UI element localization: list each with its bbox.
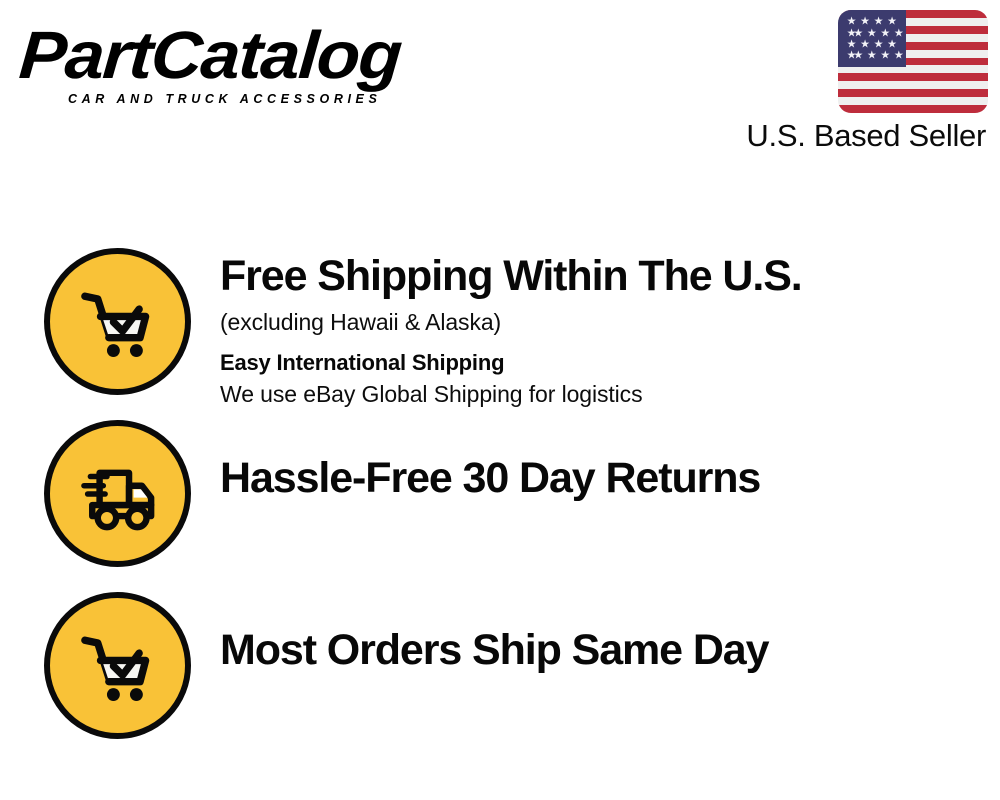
feature-heading: Hassle-Free 30 Day Returns	[220, 454, 1000, 503]
feature-row: Free Shipping Within The U.S. (excluding…	[0, 248, 1000, 410]
shopping-cart-check-icon	[44, 248, 191, 395]
feature-row: Hassle-Free 30 Day Returns	[0, 420, 1000, 567]
delivery-truck-icon	[44, 420, 191, 567]
brand-logo-tagline: CAR AND TRUCK ACCESSORIES	[68, 92, 381, 106]
brand-logo[interactable]: PartCatalog CAR AND TRUCK ACCESSORIES	[22, 22, 492, 114]
us-flag-icon: ★ ★ ★ ★ ★ ★ ★ ★ ★ ★ ★ ★ ★ ★ ★ ★ ★ ★	[838, 10, 988, 113]
flag-stripe	[838, 105, 988, 113]
feature-subheading: Easy International Shipping	[220, 348, 1000, 378]
us-based-seller-label: U.S. Based Seller	[718, 118, 988, 154]
flag-stripe	[838, 81, 988, 89]
shopping-cart-check-icon	[44, 592, 191, 739]
feature-heading: Most Orders Ship Same Day	[220, 626, 1000, 675]
feature-text-block: Hassle-Free 30 Day Returns	[191, 420, 1000, 503]
flag-stripe	[838, 73, 988, 81]
feature-text-block: Most Orders Ship Same Day	[191, 592, 1000, 675]
flag-stripe	[838, 89, 988, 97]
feature-heading: Free Shipping Within The U.S.	[220, 252, 1000, 301]
feature-body: We use eBay Global Shipping for logistic…	[220, 379, 1000, 410]
flag-stripe	[838, 97, 988, 105]
feature-row: Most Orders Ship Same Day	[0, 592, 1000, 739]
us-based-seller-badge: ★ ★ ★ ★ ★ ★ ★ ★ ★ ★ ★ ★ ★ ★ ★ ★ ★ ★ U.S.…	[718, 10, 988, 154]
brand-logo-wordmark: PartCatalog	[17, 22, 520, 90]
feature-subtext: (excluding Hawaii & Alaska)	[220, 306, 1000, 338]
page-header: PartCatalog CAR AND TRUCK ACCESSORIES ★ …	[0, 0, 1000, 170]
feature-text-block: Free Shipping Within The U.S. (excluding…	[191, 248, 1000, 410]
